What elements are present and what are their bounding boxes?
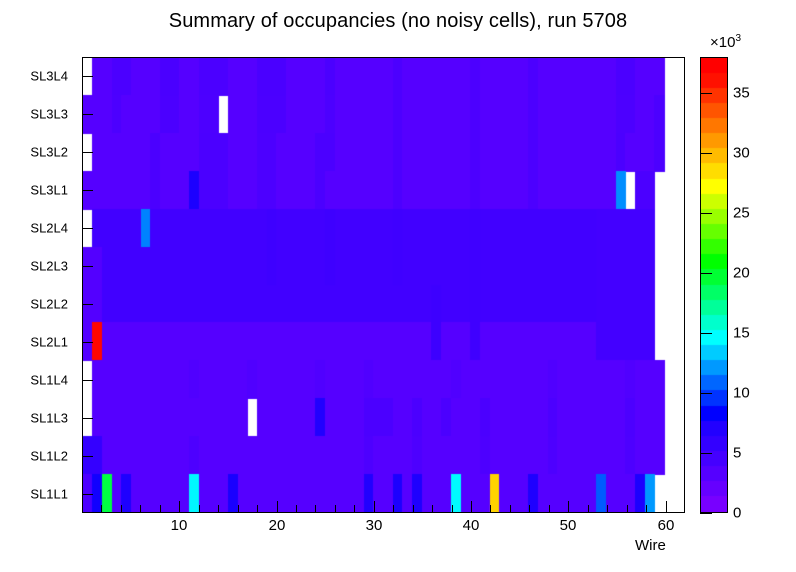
colorbar-tick-mark — [700, 93, 712, 94]
x-tick-minor — [529, 505, 530, 513]
y-tick-label-sl3l1: SL3L1 — [30, 183, 68, 198]
colorbar-tick-mark — [700, 153, 712, 154]
colorbar-exponent-label: ×103 — [710, 33, 741, 51]
colorbar-canvas — [701, 58, 727, 512]
colorbar-tick-label-30: 30 — [733, 145, 750, 162]
y-tick-label-sl2l3: SL2L3 — [30, 259, 68, 274]
y-tick-label-sl2l2: SL2L2 — [30, 297, 68, 312]
x-tick-minor — [452, 505, 453, 513]
y-axis: SL1L1SL1L2SL1L3SL1L4SL2L1SL2L2SL2L3SL2L4… — [0, 57, 78, 513]
x-tick-minor — [490, 505, 491, 513]
colorbar-tick-mark — [700, 273, 712, 274]
y-tick-mark — [82, 76, 93, 77]
colorbar-tick-label-20: 20 — [733, 265, 750, 282]
y-tick-mark — [82, 380, 93, 381]
colorbar-tick-label-5: 5 — [733, 445, 741, 462]
heatmap-canvas[interactable] — [83, 58, 684, 512]
x-tick-major — [374, 501, 375, 513]
y-tick-label-sl1l2: SL1L2 — [30, 449, 68, 464]
x-tick-minor — [432, 505, 433, 513]
x-tick-minor — [413, 505, 414, 513]
x-tick-label-10: 10 — [171, 517, 188, 534]
x-axis-title: Wire — [635, 537, 666, 554]
x-tick-minor — [101, 505, 102, 513]
y-tick-mark — [82, 418, 93, 419]
y-tick-mark — [82, 152, 93, 153]
x-tick-minor — [549, 505, 550, 513]
x-tick-major — [568, 501, 569, 513]
x-tick-minor — [646, 505, 647, 513]
x-tick-label-30: 30 — [366, 517, 383, 534]
x-tick-label-60: 60 — [658, 517, 675, 534]
x-tick-minor — [160, 505, 161, 513]
colorbar-tick-label-0: 0 — [733, 505, 741, 522]
heatmap-plot-area[interactable] — [82, 57, 685, 513]
x-tick-minor — [218, 505, 219, 513]
colorbar-tick-mark — [700, 393, 712, 394]
x-tick-minor — [510, 505, 511, 513]
x-tick-minor — [121, 505, 122, 513]
x-tick-minor — [393, 505, 394, 513]
x-tick-minor — [199, 505, 200, 513]
y-tick-mark — [82, 190, 93, 191]
y-tick-label-sl1l3: SL1L3 — [30, 411, 68, 426]
y-tick-label-sl2l4: SL2L4 — [30, 221, 68, 236]
x-tick-minor — [607, 505, 608, 513]
colorbar-tick-label-10: 10 — [733, 385, 750, 402]
x-tick-major — [666, 501, 667, 513]
x-tick-major — [471, 501, 472, 513]
y-tick-mark — [82, 266, 93, 267]
y-tick-label-sl2l1: SL2L1 — [30, 335, 68, 350]
x-tick-minor — [257, 505, 258, 513]
x-tick-minor — [315, 505, 316, 513]
y-tick-mark — [82, 304, 93, 305]
colorbar[interactable] — [700, 57, 728, 513]
chart-root: Summary of occupancies (no noisy cells),… — [0, 0, 796, 572]
chart-title: Summary of occupancies (no noisy cells),… — [0, 10, 796, 33]
y-tick-mark — [82, 456, 93, 457]
colorbar-tick-mark — [700, 513, 712, 514]
x-tick-minor — [238, 505, 239, 513]
x-tick-major — [179, 501, 180, 513]
colorbar-tick-mark — [700, 333, 712, 334]
y-tick-label-sl3l3: SL3L3 — [30, 107, 68, 122]
x-tick-minor — [335, 505, 336, 513]
x-tick-minor — [296, 505, 297, 513]
colorbar-tick-label-25: 25 — [733, 205, 750, 222]
colorbar-tick-mark — [700, 213, 712, 214]
x-tick-label-40: 40 — [463, 517, 480, 534]
x-tick-minor — [627, 505, 628, 513]
x-tick-label-20: 20 — [269, 517, 286, 534]
y-tick-mark — [82, 228, 93, 229]
y-tick-mark — [82, 114, 93, 115]
colorbar-tick-mark — [700, 453, 712, 454]
y-tick-label-sl1l1: SL1L1 — [30, 487, 68, 502]
y-tick-label-sl1l4: SL1L4 — [30, 373, 68, 388]
x-tick-minor — [588, 505, 589, 513]
x-tick-minor — [140, 505, 141, 513]
y-tick-label-sl3l4: SL3L4 — [30, 69, 68, 84]
colorbar-tick-label-15: 15 — [733, 325, 750, 342]
x-tick-label-50: 50 — [560, 517, 577, 534]
y-tick-mark — [82, 342, 93, 343]
y-tick-label-sl3l2: SL3L2 — [30, 145, 68, 160]
colorbar-tick-label-35: 35 — [733, 85, 750, 102]
y-tick-mark — [82, 494, 93, 495]
x-tick-minor — [354, 505, 355, 513]
x-tick-major — [277, 501, 278, 513]
